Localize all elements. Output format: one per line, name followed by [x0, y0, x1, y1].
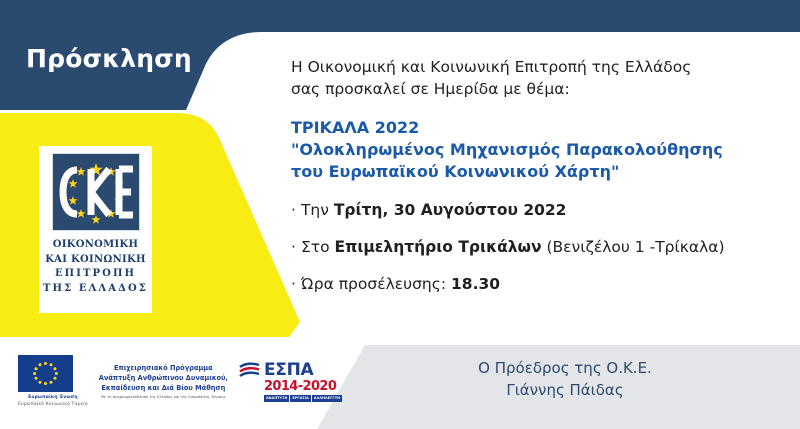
oke-logo-caption: ΟΙΚΟΝΟΜΙΚΗ ΚΑΙ ΚΟΙΝΩΝΙΚΗ ΕΠΙΤΡΟΠΗ ΤΗΣ ΕΛ… — [43, 238, 148, 296]
invitation-poster: Πρόσκληση — [0, 0, 800, 429]
detail-date: ·Την Τρίτη, 30 Αυγούστου 2022 — [291, 201, 791, 219]
main-content: Η Οικονομική και Κοινωνική Επιτροπή της … — [291, 56, 791, 293]
theme-line-1: ΤΡΙΚΑΛΑ 2022 — [291, 117, 791, 139]
programme-line-3: Εκπαίδευση και Διά Βίου Μάθηση — [99, 383, 228, 393]
bullet-marker-venue: · — [291, 238, 296, 256]
detail-venue-prefix: Στο — [301, 238, 335, 256]
espa-logo: ΕΣΠΑ 2014-2020 ΑΝΑΠΤΥΞΗ ΕΡΓΑΣΙΑ ΑΛΛΗΛΕΓΓ… — [239, 362, 342, 401]
intro-line-1: Η Οικονομική και Κοινωνική Επιτροπή της … — [291, 56, 791, 78]
theme-line-3: του Ευρωπαϊκού Κοινωνικού Χάρτη" — [291, 161, 791, 183]
eu-flag-caption-line-1: Ευρωπαϊκή Ένωση — [18, 395, 88, 402]
detail-time-value: 18.30 — [451, 275, 500, 293]
detail-date-prefix: Την — [301, 201, 334, 219]
detail-date-value: Τρίτη, 30 Αυγούστου 2022 — [334, 201, 567, 219]
programme-line-4: Με τη συγχρηματοδότηση της Ελλάδας και τ… — [99, 395, 228, 401]
oke-monogram-mark — [52, 153, 140, 231]
eu-stars-icon — [18, 355, 73, 392]
espa-waves-icon — [239, 362, 261, 382]
eu-flag-caption: Ευρωπαϊκή Ένωση Ευρωπαϊκό Κοινωνικό Ταμε… — [18, 395, 88, 409]
espa-tag-2: ΕΡΓΑΣΙΑ — [290, 395, 311, 401]
bullet-marker-time: · — [291, 275, 296, 293]
oke-caption-line-4: ΤΗΣ ΕΛΛΑΔΟΣ — [43, 282, 148, 297]
detail-venue-address: (Βενιζέλου 1 -Τρίκαλα) — [542, 238, 725, 256]
event-theme: ΤΡΙΚΑΛΑ 2022 "Ολοκληρωμένος Μηχανισμός Π… — [291, 117, 791, 182]
detail-time: ·Ώρα προσέλευσης: 18.30 — [291, 275, 791, 293]
theme-line-2: "Ολοκληρωμένος Μηχανισμός Παρακολούθησης — [291, 139, 791, 161]
espa-tag-bar: ΑΝΑΠΤΥΞΗ ΕΡΓΑΣΙΑ ΑΛΛΗΛΕΓΓΥΗ — [264, 395, 342, 401]
signature-name: Γιάννης Πάιδας — [400, 380, 730, 402]
funding-logos-strip: Ευρωπαϊκή Ένωση Ευρωπαϊκό Κοινωνικό Ταμε… — [18, 355, 342, 409]
operational-programme-text: Επιχειρησιακό Πρόγραμμα Ανάπτυξη Ανθρώπι… — [99, 363, 228, 401]
oke-logo: ΟΙΚΟΝΟΜΙΚΗ ΚΑΙ ΚΟΙΝΩΝΙΚΗ ΕΠΙΤΡΟΠΗ ΤΗΣ ΕΛ… — [39, 146, 152, 313]
signature-role: Ο Πρόεδρος της Ο.Κ.Ε. — [400, 358, 730, 380]
espa-years: 2014-2020 — [264, 380, 342, 393]
detail-time-prefix: Ώρα προσέλευσης: — [301, 275, 451, 293]
programme-line-2: Ανάπτυξη Ανθρώπινου Δυναμικού, — [99, 373, 228, 383]
bullet-marker-date: · — [291, 201, 296, 219]
espa-tag-3: ΑΛΛΗΛΕΓΓΥΗ — [312, 395, 342, 401]
oke-monogram-icon — [53, 154, 139, 230]
espa-wordmark: ΕΣΠΑ — [264, 362, 342, 379]
president-signature: Ο Πρόεδρος της Ο.Κ.Ε. Γιάννης Πάιδας — [400, 358, 730, 402]
espa-text-block: ΕΣΠΑ 2014-2020 ΑΝΑΠΤΥΞΗ ΕΡΓΑΣΙΑ ΑΛΛΗΛΕΓΓ… — [264, 362, 342, 401]
oke-caption-line-1: ΟΙΚΟΝΟΜΙΚΗ — [43, 238, 148, 253]
oke-caption-line-2: ΚΑΙ ΚΟΙΝΩΝΙΚΗ — [43, 253, 148, 268]
detail-venue: ·Στο Επιμελητήριο Τρικάλων (Βενιζέλου 1 … — [291, 238, 791, 256]
espa-tag-1: ΑΝΑΠΤΥΞΗ — [264, 395, 289, 401]
eu-flag-caption-line-2: Ευρωπαϊκό Κοινωνικό Ταμείο — [18, 402, 88, 409]
intro-line-2: σας προσκαλεί σε Ημερίδα με θέμα: — [291, 78, 791, 100]
programme-line-1: Επιχειρησιακό Πρόγραμμα — [99, 363, 228, 373]
detail-venue-value: Επιμελητήριο Τρικάλων — [334, 238, 541, 256]
eu-flag-icon — [18, 355, 73, 392]
oke-caption-line-3: ΕΠΙΤΡΟΠΗ — [43, 267, 148, 282]
eu-flag-logo: Ευρωπαϊκή Ένωση Ευρωπαϊκό Κοινωνικό Ταμε… — [18, 355, 88, 409]
invitation-title: Πρόσκληση — [26, 44, 192, 73]
